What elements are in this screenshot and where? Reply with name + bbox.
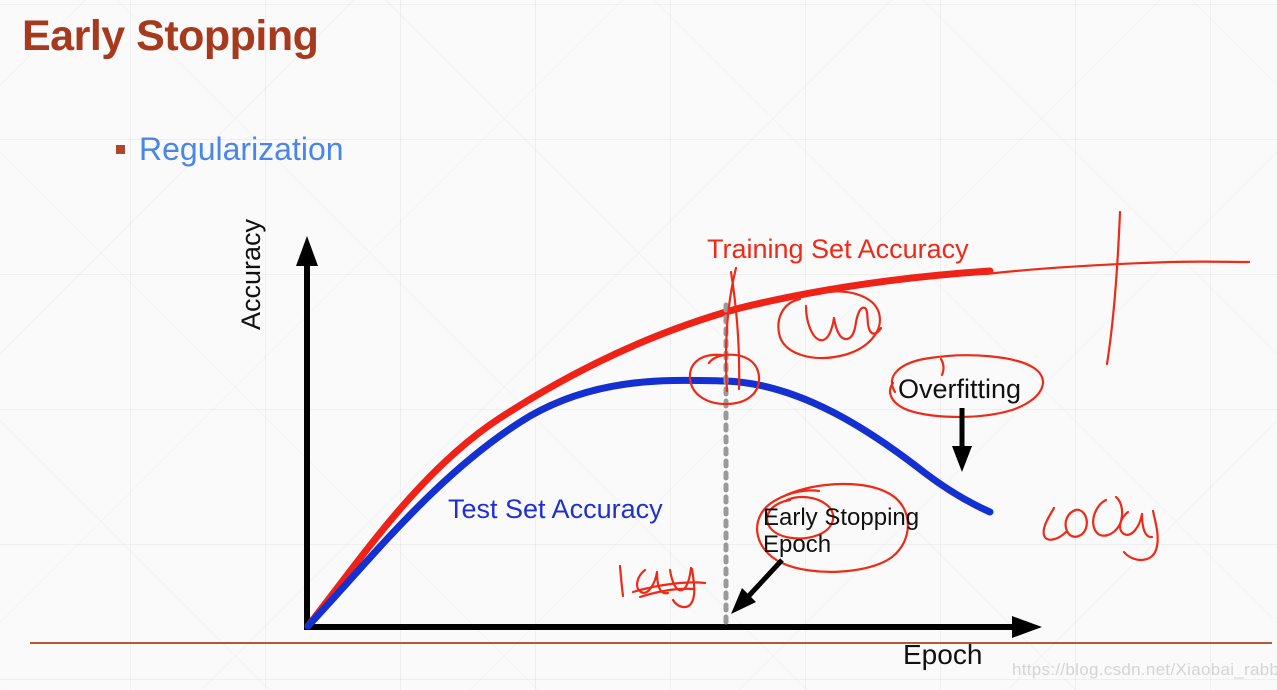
source-watermark: https://blog.csdn.net/Xiaobai_rabbit0 <box>1012 660 1277 680</box>
test-curve-label: Test Set Accuracy <box>448 494 663 525</box>
ink-vertical-tick <box>726 268 736 391</box>
early-stopping-chart <box>0 0 1277 690</box>
x-axis-label: Epoch <box>903 639 982 671</box>
handwritten-ink-layer <box>620 212 1249 607</box>
ink-val-word <box>806 306 881 340</box>
ink-overfitting-ellipse-tail <box>941 359 943 375</box>
ink-val-circle <box>778 292 879 358</box>
overfitting-arrow-head <box>952 446 972 472</box>
overfitting-label: Overfitting <box>898 374 1021 405</box>
early-stopping-label-line1: Early Stopping <box>763 504 919 532</box>
y-axis-label: Accuracy <box>236 219 267 330</box>
x-axis-arrowhead <box>1012 616 1042 638</box>
training-curve-label: Training Set Accuracy <box>707 234 969 265</box>
ink-extension-tick <box>1107 212 1120 364</box>
y-axis-arrowhead <box>296 236 318 266</box>
chart-axes <box>296 236 1042 638</box>
ink-10day-text <box>1044 497 1158 560</box>
early-stopping-arrow-shaft <box>745 560 782 600</box>
early-stopping-label-line2: Epoch <box>763 531 831 559</box>
